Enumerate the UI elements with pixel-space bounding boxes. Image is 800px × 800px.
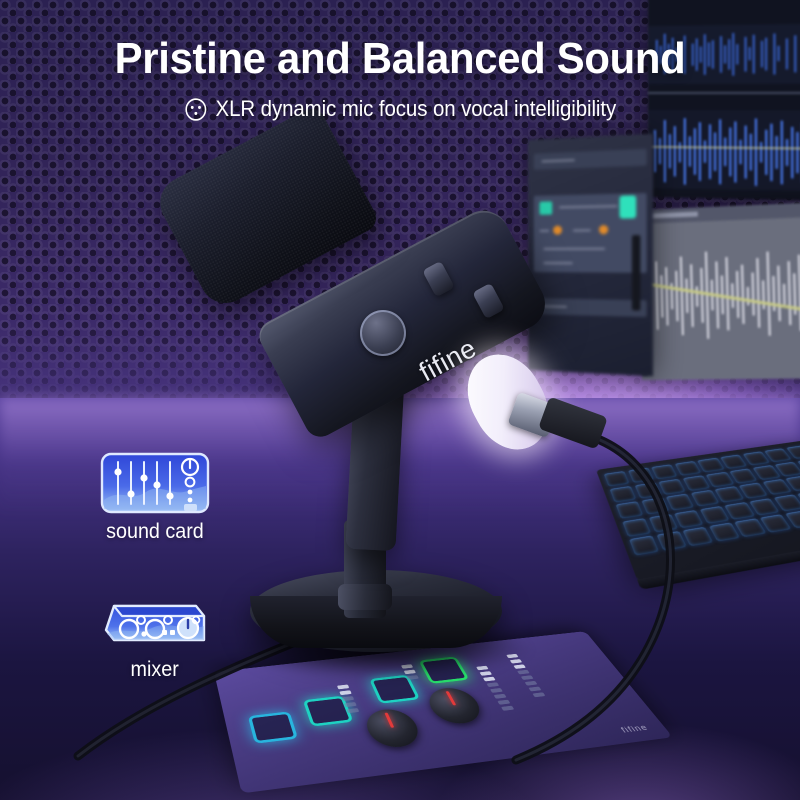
product-marketing-image: fifine fifine — [0, 0, 800, 800]
feature-label-sound-card: sound card — [106, 520, 204, 544]
page-subtitle: XLR dynamic mic focus on vocal intelligi… — [28, 96, 772, 122]
xlr-cable-boot — [538, 396, 608, 449]
xlr-connector-icon — [184, 97, 207, 122]
stand-collar — [338, 584, 392, 610]
feature-label-mixer: mixer — [131, 658, 179, 682]
sound-card-icon — [100, 452, 210, 514]
mixer-icon — [100, 590, 210, 652]
subtitle-text: XLR dynamic mic focus on vocal intelligi… — [216, 96, 617, 122]
page-title: Pristine and Balanced Sound — [20, 34, 780, 84]
feature-sound-card: sound card — [100, 452, 210, 544]
mic-tension-screw — [360, 310, 406, 356]
feature-mixer: mixer — [100, 590, 210, 682]
